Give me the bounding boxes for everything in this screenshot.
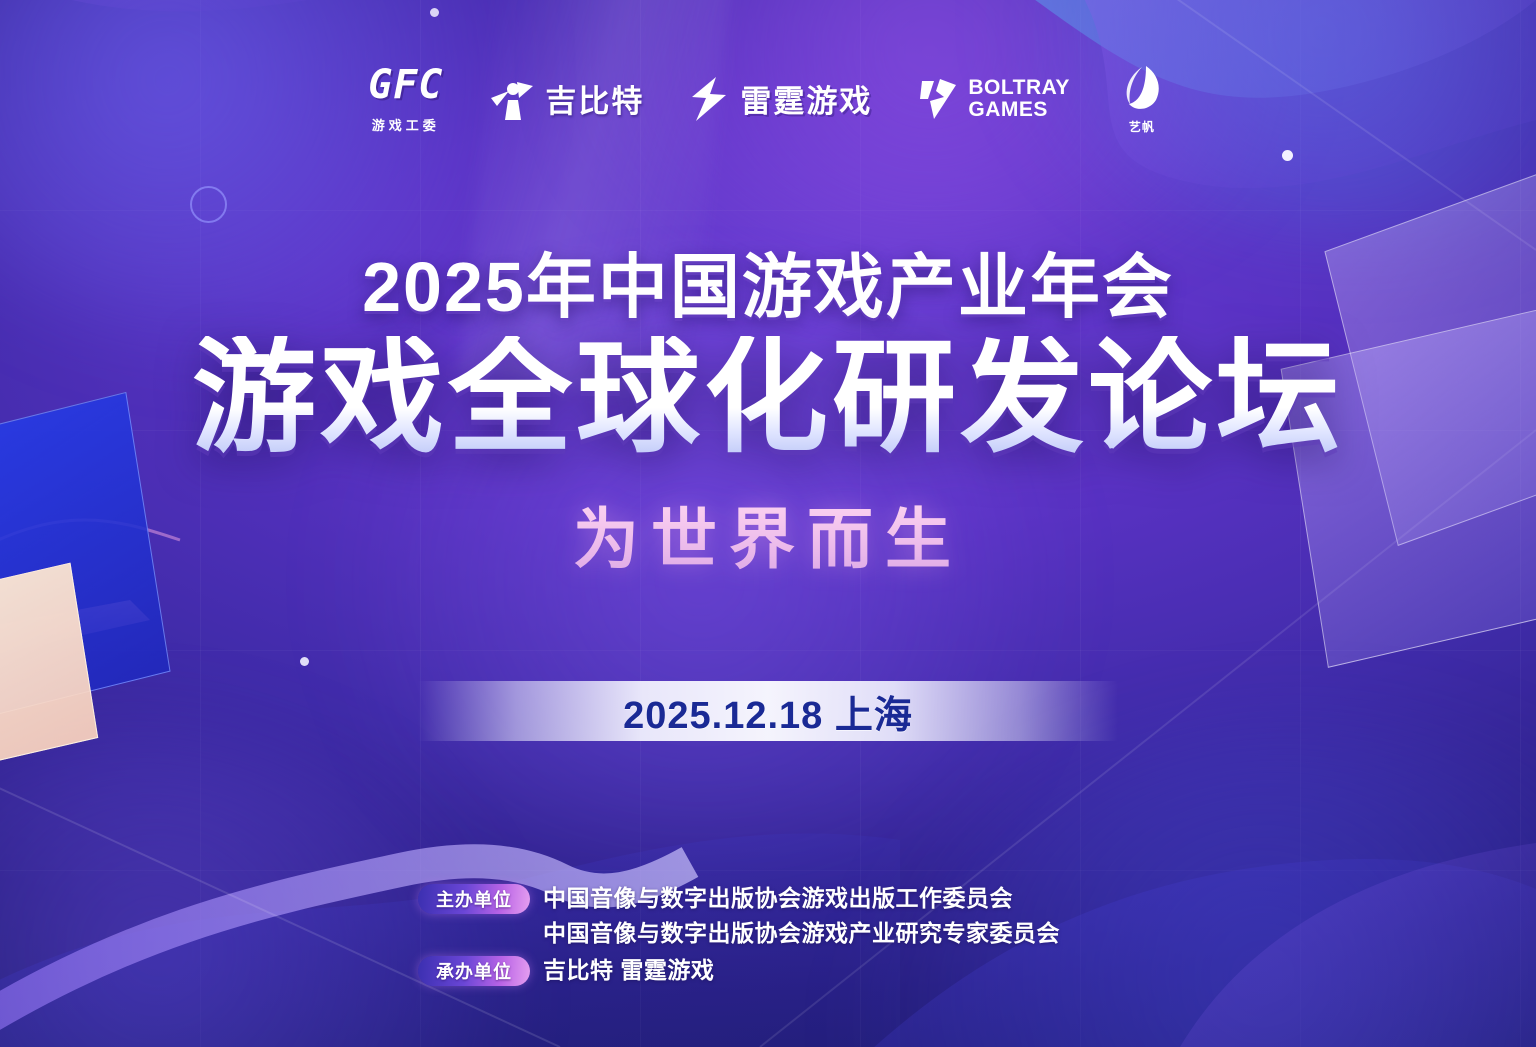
credit-row: 承办单位 吉比特 雷霆游戏 [418, 956, 1060, 986]
yifan-wordmark: 艺帆 [1129, 118, 1155, 135]
boltray-wordmark: BOLTRAY GAMES [968, 77, 1070, 121]
date-location-text: 2025.12.18 上海 [623, 684, 913, 739]
logo-gbits: 吉比特 [489, 76, 644, 122]
credit-row: 主办单位 中国音像与数字出版协会游戏出版工作委员会 中国音像与数字出版协会游戏产… [418, 884, 1060, 949]
gbits-mark-icon [489, 76, 535, 122]
yifan-sail-icon [1116, 62, 1168, 114]
credit-lines-host: 中国音像与数字出版协会游戏出版工作委员会 中国音像与数字出版协会游戏产业研究专家… [543, 884, 1060, 949]
boltray-bolt-icon [918, 77, 958, 121]
credit-badge-organizer: 承办单位 [418, 956, 530, 986]
logo-gfc: GFC 游戏工委 [368, 65, 443, 132]
poster-content: GFC 游戏工委 吉比特 雷霆游戏 [0, 0, 1536, 1047]
logo-boltray: BOLTRAY GAMES [918, 77, 1070, 121]
date-location-bar: 2025.12.18 上海 [0, 681, 1536, 741]
credit-text: 吉比特 雷霆游戏 [543, 956, 714, 985]
lightning-bolt-icon [690, 77, 730, 121]
gfc-wordmark: GFC [368, 65, 443, 105]
credit-badge-host: 主办单位 [418, 884, 530, 914]
event-poster: GFC 游戏工委 吉比特 雷霆游戏 [0, 0, 1536, 1047]
logo-leiting: 雷霆游戏 [690, 76, 872, 121]
partner-logo-row: GFC 游戏工委 吉比特 雷霆游戏 [0, 62, 1536, 135]
gbits-wordmark: 吉比特 [545, 76, 644, 121]
forum-main-title: 游戏全球化研发论坛 [0, 336, 1536, 460]
event-year-title: 2025年中国游戏产业年会 [0, 252, 1536, 322]
credit-text: 中国音像与数字出版协会游戏出版工作委员会 [543, 884, 1060, 913]
credit-lines-organizer: 吉比特 雷霆游戏 [543, 956, 714, 985]
leiting-wordmark: 雷霆游戏 [740, 76, 872, 121]
logo-yifan: 艺帆 [1116, 62, 1168, 135]
gfc-subtitle: 游戏工委 [372, 119, 440, 132]
date-bar-background: 2025.12.18 上海 [418, 681, 1118, 741]
organizer-credits: 主办单位 中国音像与数字出版协会游戏出版工作委员会 中国音像与数字出版协会游戏产… [418, 884, 1060, 986]
credit-text: 中国音像与数字出版协会游戏产业研究专家委员会 [543, 919, 1060, 948]
title-block: 2025年中国游戏产业年会 游戏全球化研发论坛 为世界而生 [0, 252, 1536, 582]
boltray-line-2: GAMES [968, 99, 1070, 121]
event-slogan: 为世界而生 [0, 486, 1536, 582]
boltray-line-1: BOLTRAY [968, 77, 1070, 99]
